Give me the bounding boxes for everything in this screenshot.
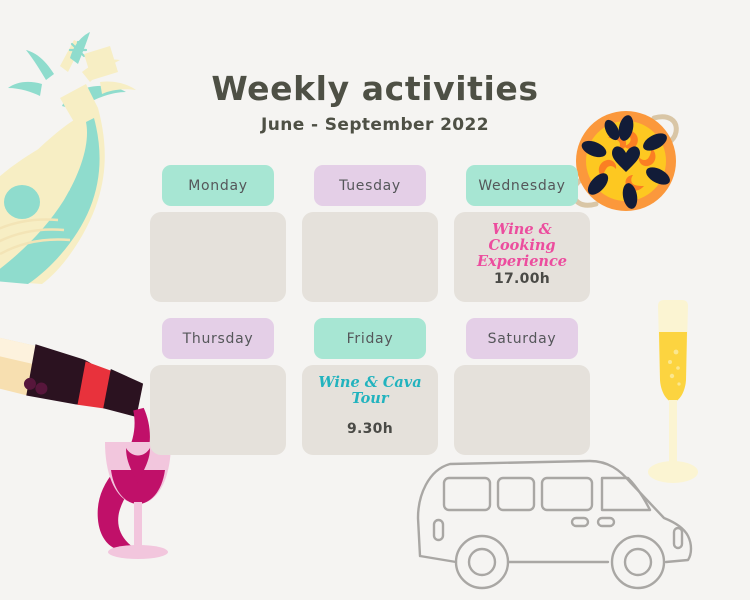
day-label-monday: Monday bbox=[188, 178, 247, 194]
cell-column-thursday bbox=[150, 365, 286, 455]
cell-column-wednesday: Wine & Cooking Experience 17.00h bbox=[454, 212, 590, 302]
day-label-thursday: Thursday bbox=[183, 331, 254, 347]
week-row-1-headers: Monday Tuesday Wednesday bbox=[150, 165, 590, 206]
day-pill-tuesday[interactable]: Tuesday bbox=[314, 165, 426, 206]
day-pill-monday[interactable]: Monday bbox=[162, 165, 274, 206]
day-column-saturday: Saturday bbox=[454, 318, 590, 359]
weekly-calendar: Monday Tuesday Wednesday bbox=[150, 165, 590, 455]
day-pill-wednesday[interactable]: Wednesday bbox=[466, 165, 578, 206]
day-column-thursday: Thursday bbox=[150, 318, 286, 359]
activity-cell-wednesday[interactable]: Wine & Cooking Experience 17.00h bbox=[454, 212, 590, 302]
activity-cell-friday[interactable]: Wine & Cava Tour 9.30h bbox=[302, 365, 438, 455]
page-title: Weekly activities bbox=[0, 72, 750, 107]
cell-column-saturday bbox=[454, 365, 590, 455]
cell-column-monday bbox=[150, 212, 286, 302]
cell-column-tuesday bbox=[302, 212, 438, 302]
day-column-monday: Monday bbox=[150, 165, 286, 206]
minibus-van-outline-icon bbox=[412, 448, 722, 593]
day-label-saturday: Saturday bbox=[488, 331, 557, 347]
activity-cell-tuesday[interactable] bbox=[302, 212, 438, 302]
day-label-friday: Friday bbox=[347, 331, 394, 347]
week-row-2-headers: Thursday Friday Saturday bbox=[150, 318, 590, 359]
day-pill-thursday[interactable]: Thursday bbox=[162, 318, 274, 359]
day-column-tuesday: Tuesday bbox=[302, 165, 438, 206]
week-row-1-cells: Wine & Cooking Experience 17.00h bbox=[150, 212, 590, 302]
poster-header: Weekly activities June - September 2022 bbox=[0, 72, 750, 135]
day-pill-friday[interactable]: Friday bbox=[314, 318, 426, 359]
activity-title-friday: Wine & Cava Tour bbox=[308, 375, 432, 407]
champagne-bottle-popping-icon bbox=[0, 22, 162, 284]
week-row-2-cells: Wine & Cava Tour 9.30h bbox=[150, 365, 590, 455]
day-label-tuesday: Tuesday bbox=[339, 178, 401, 194]
activity-cell-saturday[interactable] bbox=[454, 365, 590, 455]
activity-cell-thursday[interactable] bbox=[150, 365, 286, 455]
activity-cell-monday[interactable] bbox=[150, 212, 286, 302]
activity-time-friday: 9.30h bbox=[347, 421, 393, 437]
day-column-friday: Friday bbox=[302, 318, 438, 359]
page-subtitle: June - September 2022 bbox=[0, 115, 750, 135]
poster-canvas: Weekly activities June - September 2022 … bbox=[0, 0, 750, 600]
activity-title-wednesday: Wine & Cooking Experience bbox=[460, 222, 584, 271]
champagne-flute-icon bbox=[636, 296, 708, 491]
activity-time-wednesday: 17.00h bbox=[494, 271, 550, 287]
day-label-wednesday: Wednesday bbox=[478, 178, 565, 194]
day-column-wednesday: Wednesday bbox=[454, 165, 590, 206]
cell-column-friday: Wine & Cava Tour 9.30h bbox=[302, 365, 438, 455]
day-pill-saturday[interactable]: Saturday bbox=[466, 318, 578, 359]
